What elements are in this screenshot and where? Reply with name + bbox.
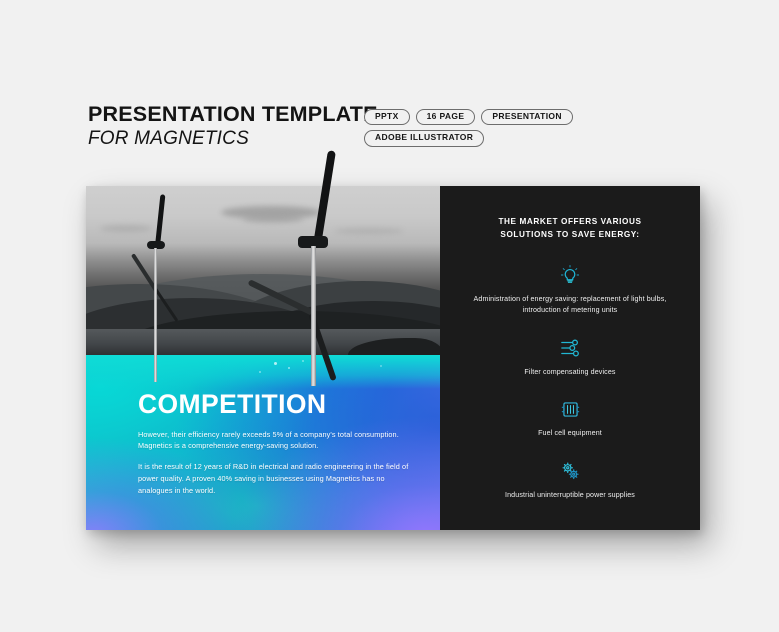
page-subtitle: FOR MAGNETICS bbox=[88, 128, 378, 151]
turbine-photo bbox=[86, 186, 440, 355]
tag-row-1: PPTX 16 PAGE PRESENTATION bbox=[364, 109, 714, 125]
competition-title: COMPETITION bbox=[138, 391, 412, 418]
title-block: PRESENTATION TEMPLATE FOR MAGNETICS bbox=[88, 102, 378, 151]
feature-item-3: Fuel cell equipment bbox=[440, 397, 700, 439]
page-title: PRESENTATION TEMPLATE bbox=[88, 102, 378, 126]
tag-row-2: ADOBE ILLUSTRATOR bbox=[364, 130, 714, 146]
slide-right-column: THE MARKET OFFERS VARIOUS SOLUTIONS TO S… bbox=[440, 186, 700, 530]
feature-label-1: Administration of energy saving: replace… bbox=[440, 294, 700, 315]
feature-label-3: Fuel cell equipment bbox=[440, 428, 700, 439]
feature-item-4: Industrial uninterruptible power supplie… bbox=[440, 459, 700, 501]
feature-item-1: Administration of energy saving: replace… bbox=[440, 263, 700, 315]
gradient-panel-content: COMPETITION However, their efficiency ra… bbox=[138, 391, 412, 497]
tag-pptx[interactable]: PPTX bbox=[364, 109, 410, 125]
mockup-stage: PRESENTATION TEMPLATE FOR MAGNETICS PPTX… bbox=[0, 0, 779, 632]
feature-label-4: Industrial uninterruptible power supplie… bbox=[440, 490, 700, 501]
tag-list: PPTX 16 PAGE PRESENTATION ADOBE ILLUSTRA… bbox=[364, 109, 714, 152]
slide-left-column: COMPETITION However, their efficiency ra… bbox=[86, 186, 440, 530]
dark-panel-heading: THE MARKET OFFERS VARIOUS SOLUTIONS TO S… bbox=[440, 216, 700, 241]
tag-16-page[interactable]: 16 PAGE bbox=[416, 109, 476, 125]
gears-icon bbox=[440, 459, 700, 483]
tag-adobe-illustrator[interactable]: ADOBE ILLUSTRATOR bbox=[364, 130, 484, 146]
dark-panel-heading-line1: THE MARKET OFFERS VARIOUS bbox=[440, 216, 700, 229]
lightbulb-icon bbox=[440, 263, 700, 287]
gradient-panel: COMPETITION However, their efficiency ra… bbox=[86, 355, 440, 530]
dark-panel-heading-line2: SOLUTIONS TO SAVE ENERGY: bbox=[440, 229, 700, 242]
battery-cell-icon bbox=[440, 397, 700, 421]
slide-card: COMPETITION However, their efficiency ra… bbox=[86, 186, 700, 530]
sliders-icon bbox=[440, 336, 700, 360]
tag-presentation[interactable]: PRESENTATION bbox=[481, 109, 573, 125]
feature-label-2: Filter compensating devices bbox=[440, 367, 700, 378]
feature-item-2: Filter compensating devices bbox=[440, 336, 700, 378]
competition-paragraph-2: It is the result of 12 years of R&D in e… bbox=[138, 461, 412, 496]
competition-paragraph-1: However, their efficiency rarely exceeds… bbox=[138, 429, 412, 453]
